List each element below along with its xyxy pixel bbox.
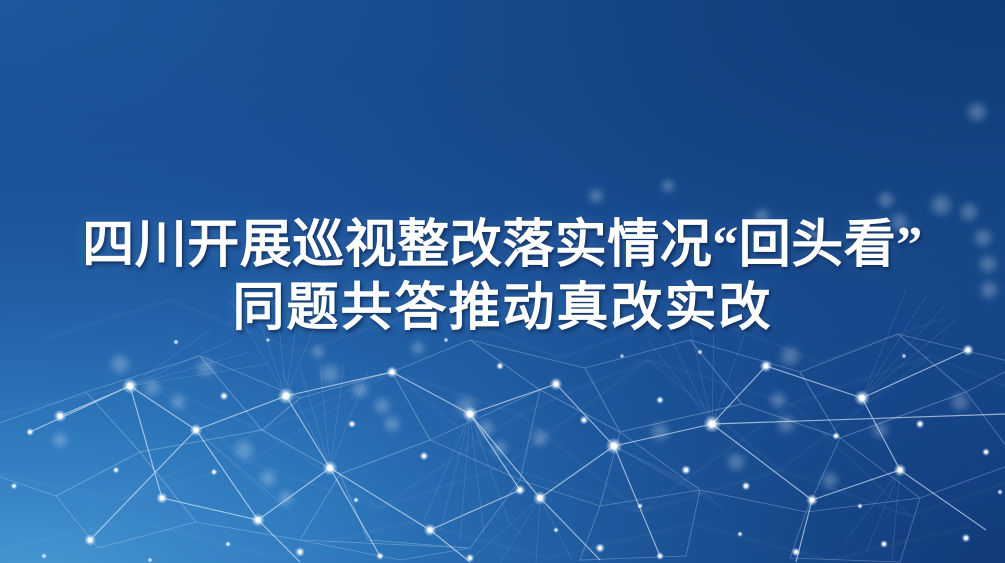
title-line-1: 四川开展巡视整改落实情况“回头看”: [0, 214, 1005, 277]
title-line-2: 同题共答推动真改实改: [0, 277, 1005, 340]
banner-title: 四川开展巡视整改落实情况“回头看” 同题共答推动真改实改: [0, 214, 1005, 340]
title-banner: 四川开展巡视整改落实情况“回头看” 同题共答推动真改实改: [0, 0, 1005, 563]
